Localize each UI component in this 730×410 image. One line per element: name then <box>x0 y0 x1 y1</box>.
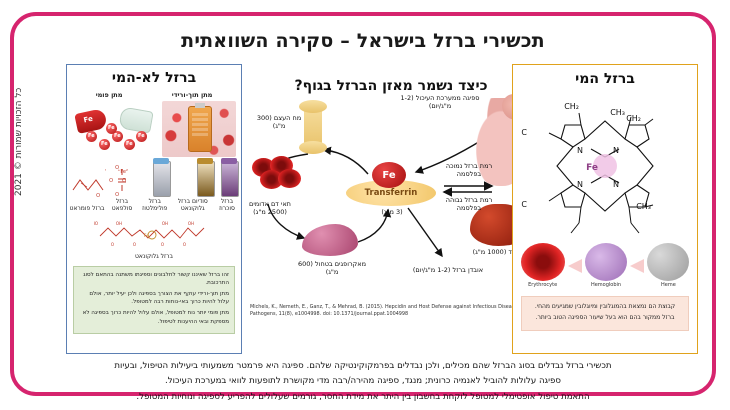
note-line: זהו ברזל שאיננו קשור לחלבונים וספיגתו מש… <box>79 271 229 287</box>
label-spleen-macrophages: מאקרופגים בטחול (600 מ"ג) <box>294 260 370 277</box>
compound-label: סודיום ברזל גלוקונאט <box>171 198 215 212</box>
svg-text:H₃C: H₃C <box>521 200 527 209</box>
svg-text:CH₂: CH₂ <box>564 102 579 111</box>
iv-bag-icon <box>188 106 212 152</box>
svg-text:CH₂: CH₂ <box>626 114 641 123</box>
note-line: מתן תוך-ורידי עוקף את הצורך בספיגה ולכן … <box>79 290 229 306</box>
compound-iron-sulfate: Fe²⁺ Fe²⁺ O O O O ברזל סולפאט <box>105 163 139 212</box>
svg-text:N: N <box>613 180 619 189</box>
label-plasma-iron-low: רמת ברזל נמוכה בפלסמה <box>442 162 496 179</box>
transferrin-amount: (3 מ"ג) <box>356 208 428 216</box>
capsule-half-clear-icon <box>118 106 153 133</box>
poster-frame: תכשירי ברזל בישראל – סקירה השוואתית ברזל… <box>10 12 716 396</box>
iron-pill-icon: Fe <box>124 139 135 150</box>
compound-iron-polymaltose: ברזל פולימלטוז <box>139 161 171 212</box>
svg-text:O: O <box>111 242 114 247</box>
iron-pill-icon: Fe <box>136 131 147 142</box>
label-red-blood-cells: תאי דם אדומים (2500 מ"ג) <box>240 200 300 217</box>
compound-label: ברזל סולפאט <box>105 198 139 212</box>
panel-right-heading: ברזל המי <box>513 71 697 87</box>
center-diagram: כיצד נשמר מאזן הברזל בגוף? <box>246 64 536 356</box>
iron-pill-icon: Fe <box>86 131 97 142</box>
red-blood-cells-icon <box>252 156 304 198</box>
chain-erythrocyte: Erythrocyte <box>521 243 565 288</box>
iron-pill-icon: Fe <box>99 139 110 150</box>
svg-text:OH: OH <box>188 221 194 226</box>
note-line: ברזל ממקור בהם הוא בעל שיעור הספיגה הטוב… <box>528 313 682 322</box>
compound-iron-fumarate: O O ברזל פומראט <box>69 170 105 212</box>
svg-text:N: N <box>613 146 619 155</box>
chain-caption: Erythrocyte <box>521 282 565 288</box>
route-images: Fe Fe Fe Fe Fe Fe <box>67 101 241 157</box>
transferrin-label: Transferrin <box>365 188 418 198</box>
copyright-notice: כל הזכויות שמורות © 2021 <box>14 88 24 196</box>
route-label-oral: מתן פומי <box>96 91 123 99</box>
svg-text:H₃C: H₃C <box>521 128 527 137</box>
compound-iron-gluconate: Fe HOOHOHOH OOOO ברזל גלוקונאט <box>69 216 239 260</box>
conclusion-line: ספיגה עלולות להוביל לאנמיה כרונית; מנגד,… <box>32 375 694 388</box>
vial-icon <box>221 161 239 197</box>
vial-icon <box>153 161 171 197</box>
right-panel-note: קבוצת הם נמצאת בהמוגלובין ומיוגלובין שמג… <box>521 296 689 331</box>
chain-caption: Hemoglobin <box>585 282 627 288</box>
compound-label: ברזל גלוקונאט <box>69 253 239 260</box>
svg-text:Fe: Fe <box>144 233 149 239</box>
compound-label: ברזל פומראט <box>69 205 105 212</box>
chain-arrow-icon <box>568 259 582 273</box>
compound-sodium-ferric-gluconate: סודיום ברזל גלוקונאט <box>171 161 215 212</box>
compound-label: ברזל סוכרוז <box>215 198 239 212</box>
compound-iron-sucrose: ברזל סוכרוז <box>215 161 239 212</box>
vial-icon <box>197 161 215 197</box>
oral-capsule-image: Fe Fe Fe Fe Fe Fe <box>72 101 158 157</box>
fe-badge: Fe <box>372 162 406 188</box>
fe-label: Fe <box>382 170 395 181</box>
compound-row-top: ברזל סוכרוז סודיום ברזל גלוקונאט ברזל פו… <box>67 161 241 212</box>
iron-cycle: Transferrin Fe (3 מ"ג) ספיגה ממערכת העיכ… <box>246 100 536 310</box>
label-iron-loss: אובדן ברזל (1-2 מ"ג/יום) <box>412 266 484 274</box>
conclusion-line: תכשירי ברזל נבדלים בסוג הברזל שהם מכילים… <box>32 360 694 373</box>
heme-to-erythrocyte-chain: Heme Hemoglobin Erythrocyte <box>513 243 697 288</box>
hemoglobin-3d-icon <box>585 243 627 281</box>
svg-text:O: O <box>109 178 113 184</box>
svg-text:O: O <box>183 242 186 247</box>
route-label-iv: מתן תוך-ורידי <box>172 91 213 99</box>
svg-text:HO: HO <box>94 221 98 226</box>
chain-arrow-icon <box>630 259 644 273</box>
svg-text:OH: OH <box>116 221 122 226</box>
svg-text:O: O <box>122 178 126 184</box>
chain-caption: Heme <box>647 282 689 288</box>
label-bone-marrow: מח העצם (300 מ"ג) <box>252 114 306 131</box>
svg-text:N: N <box>577 146 583 155</box>
route-labels: מתן תוך-ורידי מתן פומי <box>67 91 241 99</box>
svg-text:Fe²⁺: Fe²⁺ <box>105 169 106 175</box>
fe-center-label: Fe <box>586 163 598 173</box>
svg-text:O: O <box>115 165 119 171</box>
compound-row-bottom: Fe HOOHOHOH OOOO ברזל גלוקונאט <box>67 216 241 260</box>
center-question: כיצד נשמר מאזן הברזל בגוף? <box>246 78 536 94</box>
iv-infusion-image <box>162 101 236 157</box>
svg-text:O: O <box>133 242 136 247</box>
svg-text:O: O <box>96 193 100 199</box>
iron-pill-icon: Fe <box>106 123 117 134</box>
svg-text:O: O <box>115 192 119 197</box>
svg-text:OH: OH <box>162 221 168 226</box>
label-plasma-iron-high: רמת ברזל גבוהה בפלסמה <box>442 196 496 213</box>
panel-left-heading: ברזל לא-המי <box>67 70 241 86</box>
note-line: קבוצת הם נמצאת בהמוגלובין ומיוגלובין שמג… <box>528 302 682 311</box>
panel-heme-iron: ברזל המי <box>512 64 698 354</box>
svg-text:Fe²⁺: Fe²⁺ <box>118 169 128 175</box>
left-panel-note: זהו ברזל שאיננו קשור לחלבונים וספיגתו מש… <box>73 266 235 334</box>
conclusion-text: תכשירי ברזל נבדלים בסוג הברזל שהם מכילים… <box>32 360 694 406</box>
erythrocyte-icon <box>521 243 565 281</box>
note-line: מתן פומי יותר נוח למטופל, אולם עלול להיו… <box>79 309 229 325</box>
iron-fumarate-structure-icon: O O <box>69 170 105 204</box>
bone-marrow-icon <box>304 104 322 150</box>
heme-molecule-3d-icon <box>647 243 689 281</box>
heme-molecule-icon: Fe NN NN CH₂CH₃ CH₂ H₃CH₃C CH₃ <box>521 91 689 241</box>
citation-text: Michels, K., Nemeth, E., Ganz, T., & Meh… <box>246 304 540 319</box>
iron-gluconate-structure-icon: Fe HOOHOHOH OOOO <box>94 216 214 252</box>
page-title: תכשירי ברזל בישראל – סקירה השוואתית <box>14 30 712 52</box>
heme-structure: Fe NN NN CH₂CH₃ CH₂ H₃CH₃C CH₃ <box>513 91 697 241</box>
chain-heme: Heme <box>647 243 689 288</box>
compound-label: ברזל פולימלטוז <box>139 198 171 212</box>
svg-text:CH₃: CH₃ <box>610 108 625 117</box>
label-absorption: ספיגה ממערכת העיכול (1-2 מ"ג/יום) <box>398 94 482 111</box>
conclusion-line: התאמת טיפול אופטימלי למטופל לוקחת בחשבון… <box>32 391 694 404</box>
panel-non-heme-iron: ברזל לא-המי מתן תוך-ורידי מתן פומי Fe Fe… <box>66 64 242 354</box>
svg-text:O: O <box>161 242 164 247</box>
svg-text:N: N <box>577 180 583 189</box>
iron-sulfate-structure-icon: Fe²⁺ Fe²⁺ O O O O <box>105 163 139 197</box>
chain-hemoglobin: Hemoglobin <box>585 243 627 288</box>
